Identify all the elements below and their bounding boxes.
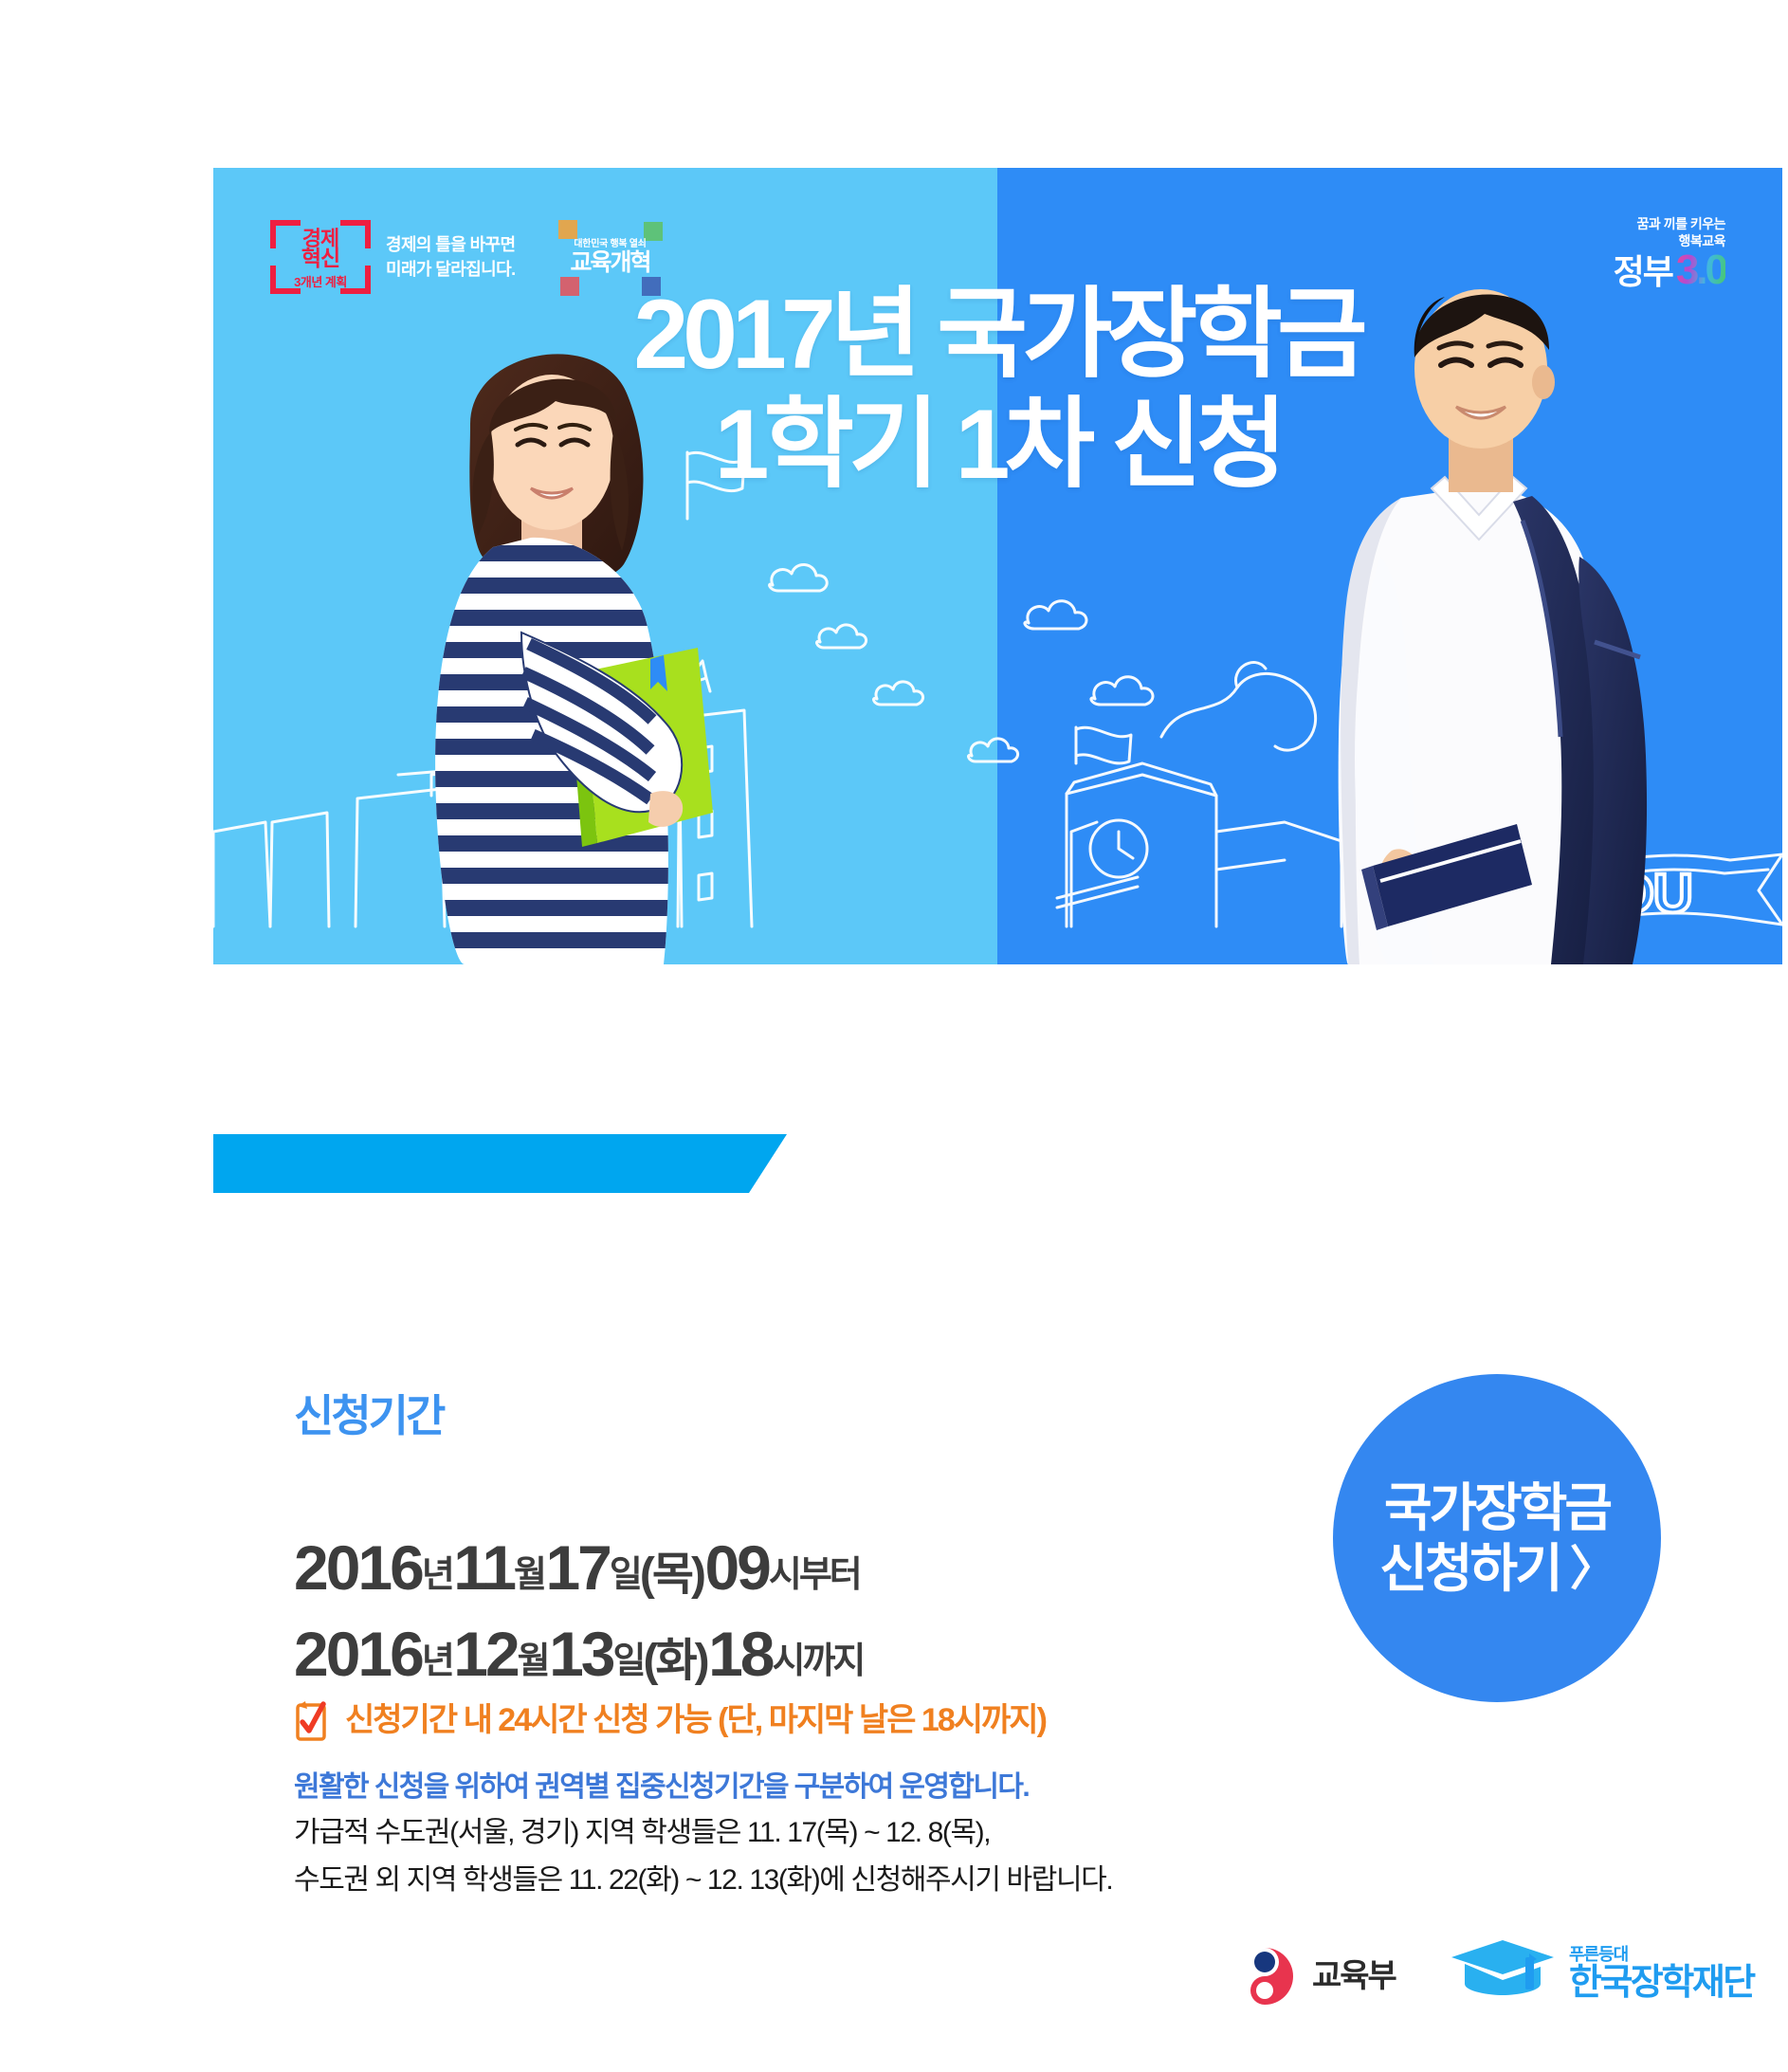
period-label: 신청기간 [294, 1394, 443, 1438]
title-line-1: 2017년 국가장학금 [213, 280, 1782, 390]
hero-banner: EDU 경제 혁신 3개년 계획 경제의 틀을 바꾸면 미래가 달라집니다. [213, 168, 1782, 964]
graduation-cap-icon [1446, 1938, 1560, 2001]
gov-tagline-line1: 꿈과 끼를 키우는 [1614, 215, 1725, 232]
economy-mark-line3: 3개년 계획 [278, 276, 363, 288]
taegeuk-icon [1232, 1944, 1297, 2008]
start-month: 11 [453, 1532, 514, 1603]
end-month: 12 [453, 1619, 517, 1689]
poster-root: EDU 경제 혁신 3개년 계획 경제의 틀을 바꾸면 미래가 달라집니다. [0, 0, 1788, 2072]
start-weekday: (목) [640, 1549, 703, 1600]
regional-schedule-paragraph: 원활한 신청을 위하여 권역별 집중신청기간을 구분하여 운영합니다. 가급적 … [294, 1766, 1356, 1904]
gov-version: 3.0 [1676, 251, 1725, 289]
cta-line-2-row: 신청하기 〉 [1379, 1538, 1614, 1599]
education-badge-main-text: 교육개혁 [556, 250, 663, 275]
economy-mark-line2: 혁신 [278, 248, 363, 268]
paragraph-highlight: 원활한 신청을 위하여 권역별 집중신청기간을 구분하여 운영합니다. [294, 1766, 1356, 1809]
chevron-right-icon: 〉 [1570, 1538, 1615, 1599]
ministry-name: 교육부 [1312, 1960, 1396, 1992]
paragraph-line-1: 가급적 수도권(서울, 경기) 지역 학생들은 11. 17(목) ~ 12. … [294, 1809, 1356, 1857]
start-year: 2016 [294, 1532, 422, 1603]
apply-scholarship-button[interactable]: 국가장학금 신청하기 〉 [1333, 1374, 1661, 1702]
gov-name: 정부 [1614, 255, 1672, 289]
checkbox-checked-icon [294, 1699, 328, 1741]
edu-square-red-icon [560, 277, 579, 296]
partner-badges: 경제 혁신 3개년 계획 경제의 틀을 바꾸면 미래가 달라집니다. 대한민국 … [270, 220, 663, 296]
availability-note: 신청기간 내 24시간 신청 가능 (단, 마지막 날은 18시까지) [294, 1699, 1046, 1741]
end-year-unit: 년 [422, 1641, 452, 1681]
edu-square-blue-icon [642, 277, 661, 296]
end-hour: 18 [708, 1619, 772, 1689]
ministry-of-education-logo: 교육부 [1232, 1944, 1396, 2008]
start-day-unit: 일 [610, 1555, 640, 1595]
start-month-unit: 월 [514, 1555, 544, 1595]
end-year: 2016 [294, 1619, 422, 1689]
start-hour-suffix: 시부터 [769, 1555, 860, 1595]
education-badge-top-text: 대한민국 행복 열쇠 [556, 239, 663, 249]
cta-line-1: 국가장학금 [1384, 1477, 1610, 1538]
economy-innovation-badge: 경제 혁신 3개년 계획 경제의 틀을 바꾸면 미래가 달라집니다. [270, 220, 515, 294]
economy-bracket-mark: 경제 혁신 3개년 계획 [270, 220, 371, 294]
government-30-badge: 꿈과 끼를 키우는 행복교육 정부 3.0 [1614, 215, 1725, 289]
economy-slogan: 경제의 틀을 바꾸면 미래가 달라집니다. [386, 232, 515, 282]
page-title: 2017년 국가장학금 1학기 1차 신청 [213, 280, 1782, 500]
end-day-unit: 일 [613, 1641, 644, 1681]
end-weekday: (화) [643, 1636, 706, 1686]
edu-square-green-icon [644, 222, 663, 241]
application-end-date: 2016년 12월 13일(화) 18시까지 [294, 1623, 863, 1685]
foundation-sub-name: 푸른등대 [1569, 1946, 1754, 1963]
end-day: 13 [549, 1619, 612, 1689]
start-hour: 09 [704, 1532, 768, 1603]
foundation-name: 한국장학재단 [1569, 1965, 1754, 2001]
footer-logos: 교육부 푸른등대 한국장학재단 [0, 1934, 1788, 2039]
paragraph-line-2: 수도권 외 지역 학생들은 11. 22(화) ~ 12. 13(화)에 신청해… [294, 1857, 1356, 1904]
end-month-unit: 월 [518, 1641, 548, 1681]
edu-square-orange-icon [558, 220, 577, 239]
title-line-2: 1학기 1차 신청 [213, 390, 1782, 500]
blue-diagonal-band [0, 1134, 1788, 1193]
cta-line-2: 신청하기 [1379, 1538, 1560, 1599]
kosaf-logo: 푸른등대 한국장학재단 [1446, 1938, 1754, 2001]
education-reform-badge: 대한민국 행복 열쇠 교육개혁 [556, 220, 663, 296]
end-hour-suffix: 시까지 [773, 1641, 864, 1681]
start-day: 17 [545, 1532, 609, 1603]
availability-note-text: 신청기간 내 24시간 신청 가능 (단, 마지막 날은 18시까지) [345, 1702, 1046, 1738]
application-start-date: 2016년 11월 17일(목) 09시부터 [294, 1536, 860, 1599]
start-year-unit: 년 [422, 1555, 452, 1595]
